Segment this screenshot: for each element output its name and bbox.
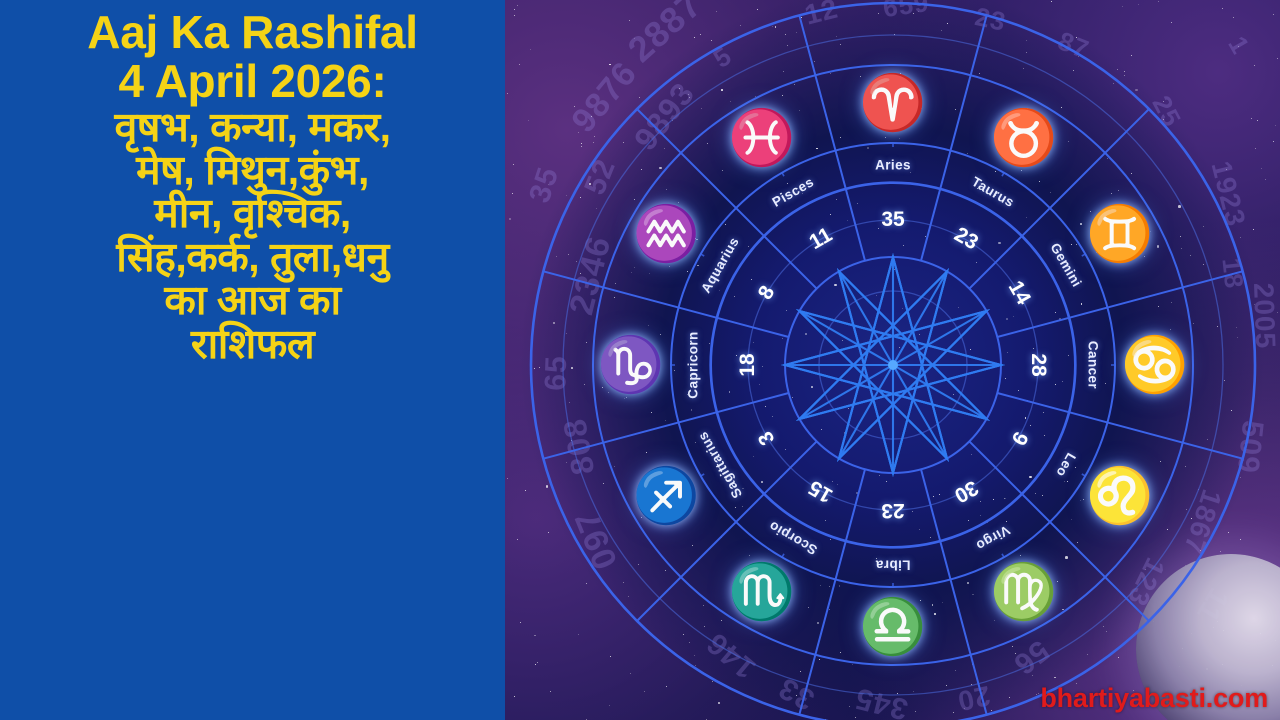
headline-line-3: वृषभ, कन्या, मकर, [0,106,505,149]
zodiac-wheel-panel: 2887126592387198769893525355219232346182… [505,0,1280,720]
poster-canvas: Aaj Ka Rashifal 4 April 2026: वृषभ, कन्य… [0,0,1280,720]
headline-line-4: मेष, मिथुन,कुंभ, [0,149,505,192]
headline-line-1: Aaj Ka Rashifal [0,8,505,57]
headline-panel: Aaj Ka Rashifal 4 April 2026: वृषभ, कन्य… [0,0,505,720]
headline-line-7: का आज का [0,279,505,322]
headline-line-5: मीन, वृश्चिक, [0,192,505,235]
headline-line-6: सिंह,कर्क, तुला,धनु [0,236,505,279]
wheel-hub [888,360,898,370]
headline-line-8: राशिफल [0,323,505,366]
headline-line-2: 4 April 2026: [0,57,505,106]
wheel-rings [523,0,1263,720]
site-watermark: bhartiyabasti.com [1040,683,1268,714]
